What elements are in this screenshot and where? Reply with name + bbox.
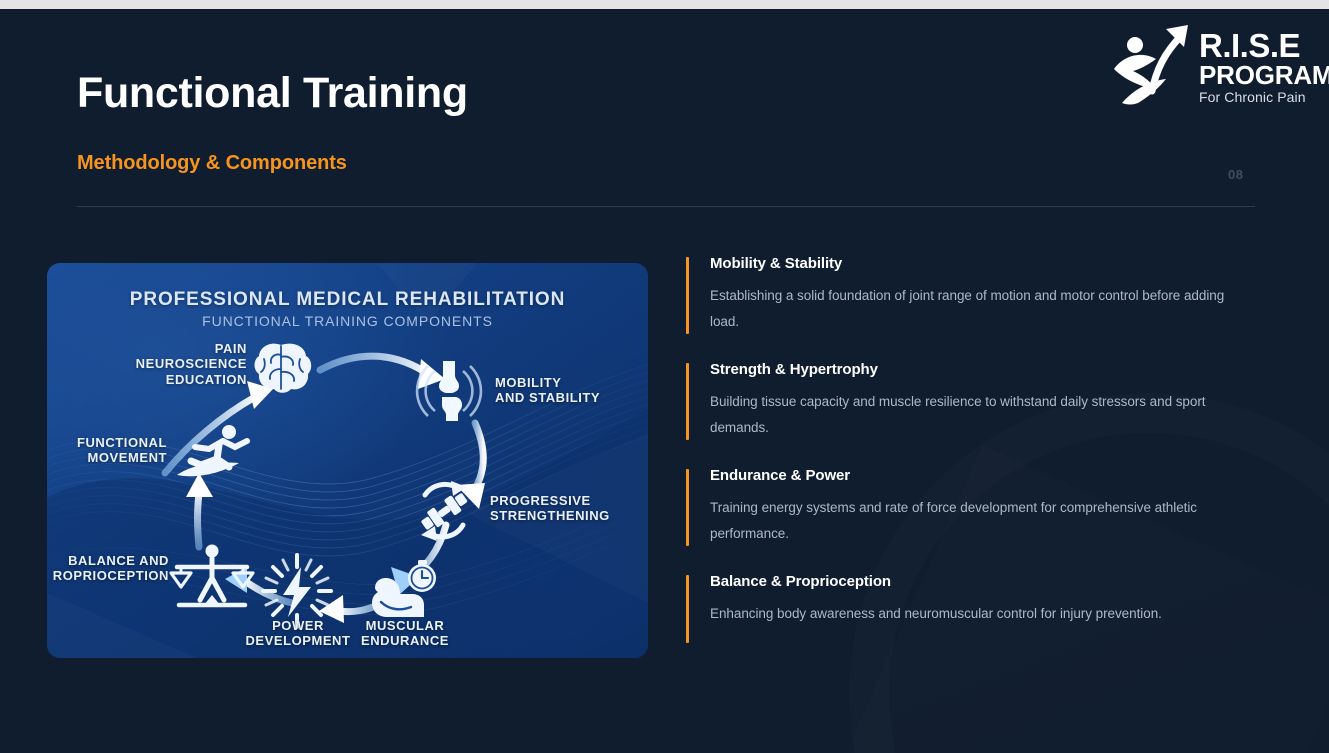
- component-title: Endurance & Power: [710, 467, 1256, 484]
- knee-joint-icon: [413, 355, 485, 427]
- infographic-subtitle: FUNCTIONAL TRAINING COMPONENTS: [47, 313, 648, 329]
- logo-tagline: For Chronic Pain: [1199, 89, 1329, 105]
- header-divider: [77, 206, 1255, 207]
- functional-training-infographic: PROFESSIONAL MEDICAL REHABILITATION FUNC…: [47, 263, 648, 658]
- accent-bar: [686, 363, 689, 440]
- list-item: Balance & Proprioception Enhancing body …: [686, 573, 1256, 645]
- component-title: Mobility & Stability: [710, 255, 1256, 272]
- logo-program: PROGRAM: [1199, 62, 1329, 88]
- component-list: Mobility & Stability Establishing a soli…: [686, 255, 1256, 645]
- node-label-progressive-strengthening: PROGRESSIVE STRENGTHENING: [490, 493, 648, 524]
- brand-logo: R.I.S.E PROGRAM For Chronic Pain: [1100, 17, 1329, 117]
- accent-bar: [686, 469, 689, 546]
- node-label-balance-and-proprioception: BALANCE AND ROPRIOCEPTION: [47, 553, 169, 584]
- component-description: Establishing a solid foundation of joint…: [710, 283, 1255, 336]
- running-figure-icon: [173, 423, 255, 483]
- accent-bar: [686, 575, 689, 643]
- list-item: Endurance & Power Training energy system…: [686, 467, 1256, 548]
- logo-name: R.I.S.E: [1199, 30, 1329, 62]
- component-title: Balance & Proprioception: [710, 573, 1256, 590]
- balance-scale-figure-icon: [167, 543, 257, 615]
- page-number: 08: [1228, 167, 1243, 182]
- node-label-functional-movement: FUNCTIONAL MOVEMENT: [63, 435, 167, 466]
- slide-canvas: Functional Training Methodology & Compon…: [0, 9, 1329, 753]
- logo-wordmark: R.I.S.E PROGRAM For Chronic Pain: [1199, 30, 1329, 105]
- brain-icon: [251, 339, 313, 397]
- running-figure-arrow-icon: [1100, 17, 1196, 113]
- component-description: Enhancing body awareness and neuromuscul…: [710, 601, 1255, 627]
- infographic-title: PROFESSIONAL MEDICAL REHABILITATION: [47, 289, 648, 311]
- list-item: Mobility & Stability Establishing a soli…: [686, 255, 1256, 336]
- browser-chrome-strip: [0, 0, 1329, 9]
- component-title: Strength & Hypertrophy: [710, 361, 1256, 378]
- node-label-mobility-and-stability: MOBILITY AND STABILITY: [495, 375, 648, 406]
- node-label-pain-neuroscience-education: PAIN NEUROSCIENCE EDUCATION: [123, 341, 247, 387]
- component-description: Building tissue capacity and muscle resi…: [710, 389, 1255, 442]
- page-title: Functional Training: [77, 71, 468, 116]
- dumbbell-cycle-icon: [405, 475, 483, 547]
- accent-bar: [686, 257, 689, 334]
- component-description: Training energy systems and rate of forc…: [710, 495, 1255, 548]
- slide-root: Functional Training Methodology & Compon…: [0, 0, 1329, 753]
- node-label-power-development: POWER DEVELOPMENT: [233, 618, 363, 649]
- list-item: Strength & Hypertrophy Building tissue c…: [686, 361, 1256, 442]
- page-subtitle: Methodology & Components: [77, 152, 347, 175]
